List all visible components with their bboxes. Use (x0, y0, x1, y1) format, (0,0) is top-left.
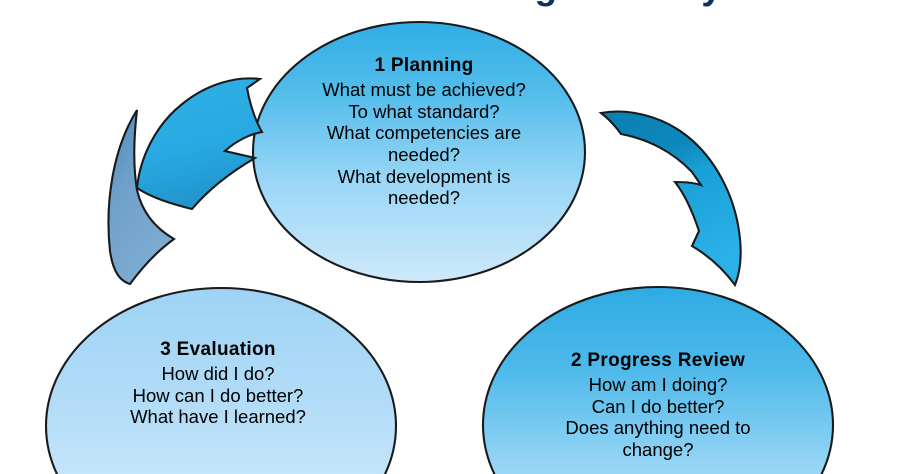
node-ellipse-progress-review[interactable] (483, 287, 833, 474)
cycle-diagram (0, 0, 904, 474)
arrow-evaluation-to-planning-head (137, 78, 262, 209)
arrow-planning-to-progress (601, 112, 741, 285)
diagram-canvas: The Performance Management Cycle (0, 0, 904, 474)
node-ellipse-planning[interactable] (253, 22, 585, 282)
node-ellipse-evaluation[interactable] (46, 288, 396, 474)
